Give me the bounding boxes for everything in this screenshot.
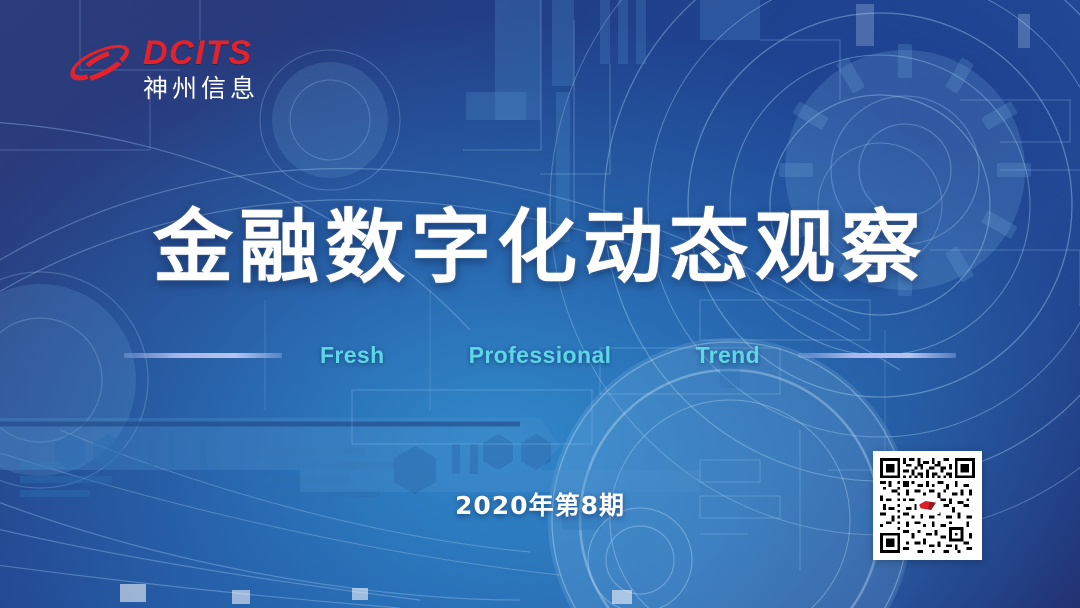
poster-canvas: DCITS 神州信息 金融数字化动态观察 Fresh Professional … <box>0 0 1080 608</box>
tagline-rule-right <box>798 353 956 358</box>
dcits-swirl-mark-icon <box>68 34 134 100</box>
tagline-word-professional: Professional <box>469 342 612 369</box>
brand-wordmark: DCITS 神州信息 <box>143 33 259 101</box>
page-title: 金融数字化动态观察 <box>0 183 1080 299</box>
brand-chinese-text: 神州信息 <box>143 76 259 101</box>
tagline-row: Fresh Professional Trend <box>0 338 1080 372</box>
tagline-word-fresh: Fresh <box>320 342 385 369</box>
tagline-rule-left <box>124 353 282 358</box>
qr-code[interactable] <box>873 451 982 560</box>
tagline-word-trend: Trend <box>695 342 760 369</box>
brand-logo: DCITS 神州信息 <box>68 33 259 101</box>
qr-center-logo-icon <box>916 498 939 514</box>
qr-code-cells <box>880 458 975 553</box>
brand-latin-text: DCITS <box>143 36 259 70</box>
